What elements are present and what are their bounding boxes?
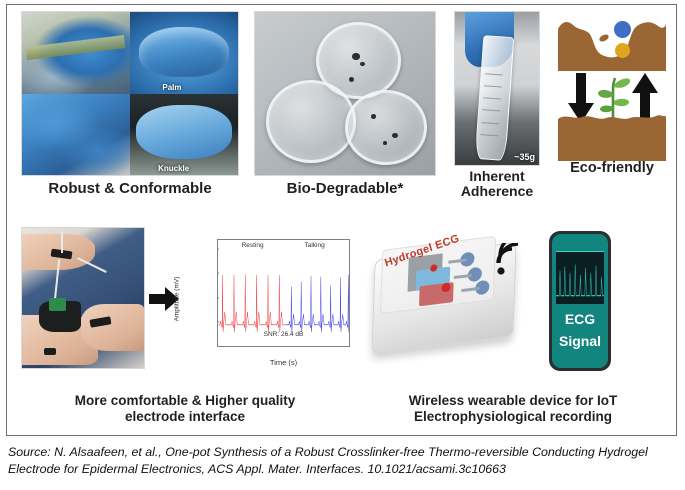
petri-dish	[266, 80, 357, 163]
weight-caption: ~35g	[514, 152, 535, 162]
phone-label-line1: ECG	[552, 312, 608, 328]
phone-ecg-plot	[556, 251, 604, 304]
smartphone-readout: ECG Signal	[541, 223, 619, 381]
petri-dish	[345, 90, 427, 164]
panel-eco-friendly: Eco-friendly	[558, 11, 666, 171]
caption-electrode-line2: electrode interface	[125, 409, 245, 424]
shoe-strap	[49, 298, 66, 311]
wireless-wearable-device: Hydrogel ECG	[367, 229, 532, 371]
ecg-traces	[218, 240, 349, 346]
panel-inherent-adherence: ~35g Inherent Adherence	[454, 11, 540, 166]
soil-pit-icon	[558, 15, 666, 71]
arm-electrodes-photo	[21, 227, 145, 369]
caption-wireless-device: Wireless wearable device for IoT Electro…	[355, 393, 671, 425]
soil-plant-degradation-diagram	[558, 11, 666, 171]
top-row: Palm Knuckle Robust & Conformable	[7, 5, 676, 220]
photo-quadrant-palm: Palm	[130, 12, 238, 94]
caption-wireless-line2: Electrophysiological recording	[414, 409, 612, 424]
petri-dishes-photo	[254, 11, 436, 176]
centrifuge-tube-photo: ~35g	[454, 11, 540, 166]
knuckle-caption: Knuckle	[158, 164, 189, 173]
chart-plot-area: 0.9 0.6 0.3 0 -0.3 26 36 Resting Talking…	[217, 239, 350, 347]
panel-label-adherence: Inherent Adherence	[454, 169, 540, 198]
wifi-icon	[496, 243, 530, 275]
photo-quadrant-stretch	[22, 12, 130, 94]
soil-ground-icon	[558, 111, 666, 161]
panel-label-robust: Robust & Conformable	[21, 181, 239, 197]
panel-label-biodegradable: Bio-Degradable*	[254, 181, 436, 197]
panel-biodegradable: Bio-Degradable*	[254, 11, 436, 176]
ecg-chart: Amplitude (mV) 0.9 0.6 0.3 0 -0.3 26 36 …	[183, 225, 355, 373]
panel-label-adherence-line2: Adherence	[461, 183, 533, 199]
molecule-blue-icon	[614, 21, 631, 38]
caption-wireless-line1: Wireless wearable device for IoT	[409, 393, 617, 408]
graphical-abstract-page: Palm Knuckle Robust & Conformable	[0, 0, 685, 490]
panel-robust-conformable: Palm Knuckle Robust & Conformable	[21, 11, 239, 176]
palm-caption: Palm	[162, 83, 181, 92]
caption-electrode-interface: More comfortable & Higher quality electr…	[15, 393, 355, 425]
photo-quadrant-fingers	[22, 94, 130, 176]
panel-label-adherence-line1: Inherent	[469, 168, 524, 184]
gloved-hand-hydrogel-photo: Palm Knuckle	[21, 11, 239, 176]
photo-quadrant-knuckle: Knuckle	[130, 94, 238, 176]
second-hand	[81, 304, 144, 352]
figure-frame: Palm Knuckle Robust & Conformable	[6, 4, 677, 436]
caption-electrode-line1: More comfortable & Higher quality	[75, 393, 296, 408]
chart-y-axis-label: Amplitude (mV)	[174, 277, 181, 322]
molecule-yellow-icon	[615, 43, 630, 58]
electrode-patch	[44, 348, 56, 355]
panel-label-eco: Eco-friendly	[558, 161, 666, 176]
phone-screen[interactable]: ECG Signal	[552, 234, 608, 368]
source-citation: Source: N. Alsaafeen, et al., One-pot Sy…	[8, 444, 678, 477]
phone-label-line2: Signal	[552, 334, 608, 350]
chart-x-axis-label: Time (s)	[217, 358, 350, 367]
smartphone-icon[interactable]: ECG Signal	[549, 231, 611, 371]
